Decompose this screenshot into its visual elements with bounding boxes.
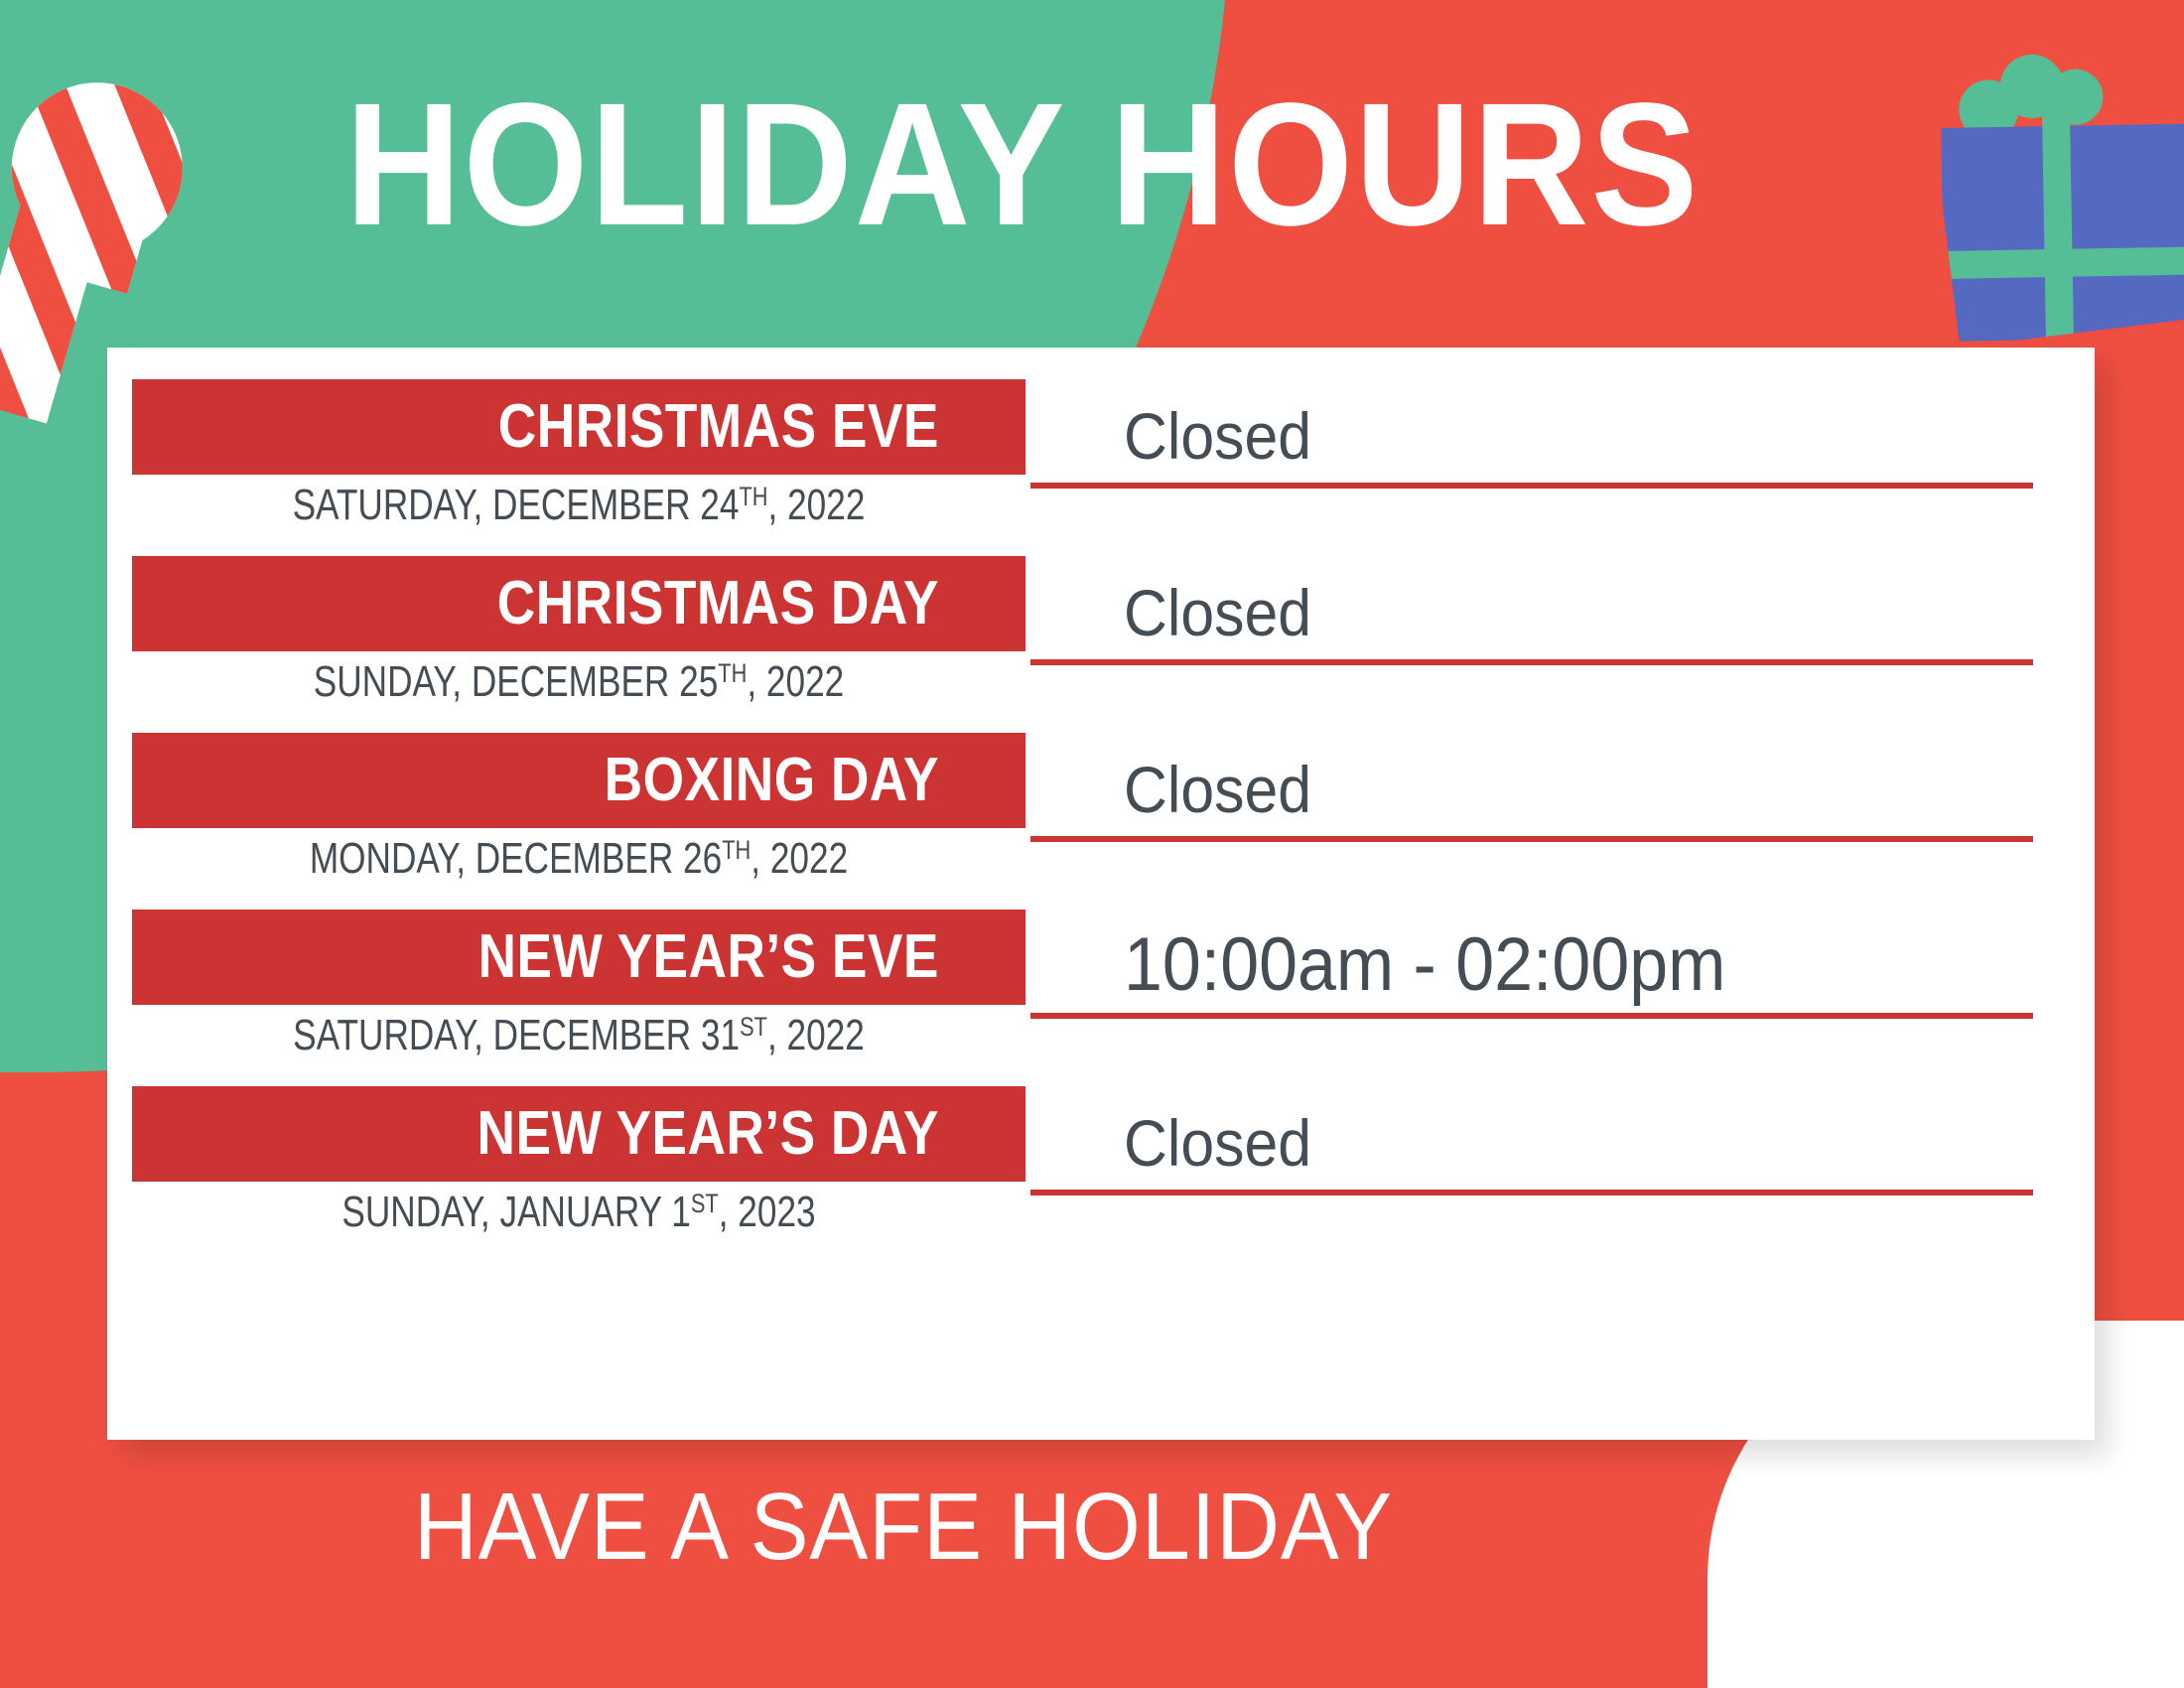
hours-cell: Closed bbox=[1030, 1086, 2033, 1196]
holiday-date: SATURDAY, DECEMBER 31ST, 2022 bbox=[221, 1013, 936, 1057]
date-year: , 2022 bbox=[767, 1011, 865, 1059]
hours-value: Closed bbox=[1124, 757, 1311, 822]
date-weekday: SATURDAY, DECEMBER 24 bbox=[293, 481, 740, 529]
holiday-name-band: NEW YEAR’S DAY bbox=[132, 1086, 1025, 1182]
hours-value: Closed bbox=[1124, 580, 1311, 645]
holiday-name-band: NEW YEAR’S EVE bbox=[132, 910, 1025, 1005]
hours-value: Closed bbox=[1124, 403, 1311, 469]
holiday-name-band: CHRISTMAS EVE bbox=[132, 379, 1025, 475]
holiday-date: MONDAY, DECEMBER 26TH, 2022 bbox=[221, 836, 936, 881]
date-year: , 2022 bbox=[768, 481, 866, 529]
date-year: , 2022 bbox=[751, 834, 848, 883]
date-year: , 2023 bbox=[719, 1188, 816, 1236]
holiday-date: SUNDAY, JANUARY 1ST, 2023 bbox=[221, 1190, 936, 1234]
holiday-hours-poster: HOLIDAY HOURS CHRISTMAS EVE Closed SATUR… bbox=[0, 0, 2184, 1688]
holiday-date: SUNDAY, DECEMBER 25TH, 2022 bbox=[221, 659, 936, 704]
holiday-name-band: CHRISTMAS DAY bbox=[132, 556, 1025, 651]
hours-cell: Closed bbox=[1030, 733, 2033, 842]
holiday-name: CHRISTMAS DAY bbox=[193, 573, 939, 634]
holiday-name: NEW YEAR’S DAY bbox=[193, 1103, 939, 1165]
holiday-name-band: BOXING DAY bbox=[132, 733, 1025, 828]
date-ordinal: TH bbox=[718, 657, 747, 688]
page-title: HOLIDAY HOURS bbox=[81, 77, 1963, 252]
date-ordinal: TH bbox=[722, 834, 751, 865]
date-weekday: SATURDAY, DECEMBER 31 bbox=[293, 1011, 740, 1059]
date-weekday: MONDAY, DECEMBER 26 bbox=[310, 834, 722, 883]
holiday-name: CHRISTMAS EVE bbox=[193, 396, 939, 458]
footer-message: HAVE A SAFE HOLIDAY bbox=[72, 1479, 1734, 1575]
schedule-card: CHRISTMAS EVE Closed SATURDAY, DECEMBER … bbox=[107, 348, 2095, 1440]
date-ordinal: ST bbox=[691, 1188, 719, 1218]
holiday-name: BOXING DAY bbox=[193, 750, 939, 811]
schedule-rows: CHRISTMAS EVE Closed SATURDAY, DECEMBER … bbox=[107, 348, 2095, 1440]
date-weekday: SUNDAY, DECEMBER 25 bbox=[314, 657, 719, 706]
holiday-date: SATURDAY, DECEMBER 24TH, 2022 bbox=[221, 483, 936, 527]
hours-cell: 10:00am - 02:00pm bbox=[1030, 910, 2033, 1019]
date-weekday: SUNDAY, JANUARY 1 bbox=[341, 1188, 690, 1236]
hours-cell: Closed bbox=[1030, 379, 2033, 489]
date-ordinal: ST bbox=[740, 1011, 767, 1042]
holiday-name: NEW YEAR’S EVE bbox=[193, 926, 939, 988]
hours-value: Closed bbox=[1124, 1110, 1311, 1176]
date-ordinal: TH bbox=[739, 481, 767, 511]
hours-cell: Closed bbox=[1030, 556, 2033, 665]
date-year: , 2022 bbox=[747, 657, 844, 706]
hours-value: 10:00am - 02:00pm bbox=[1124, 927, 1725, 1003]
